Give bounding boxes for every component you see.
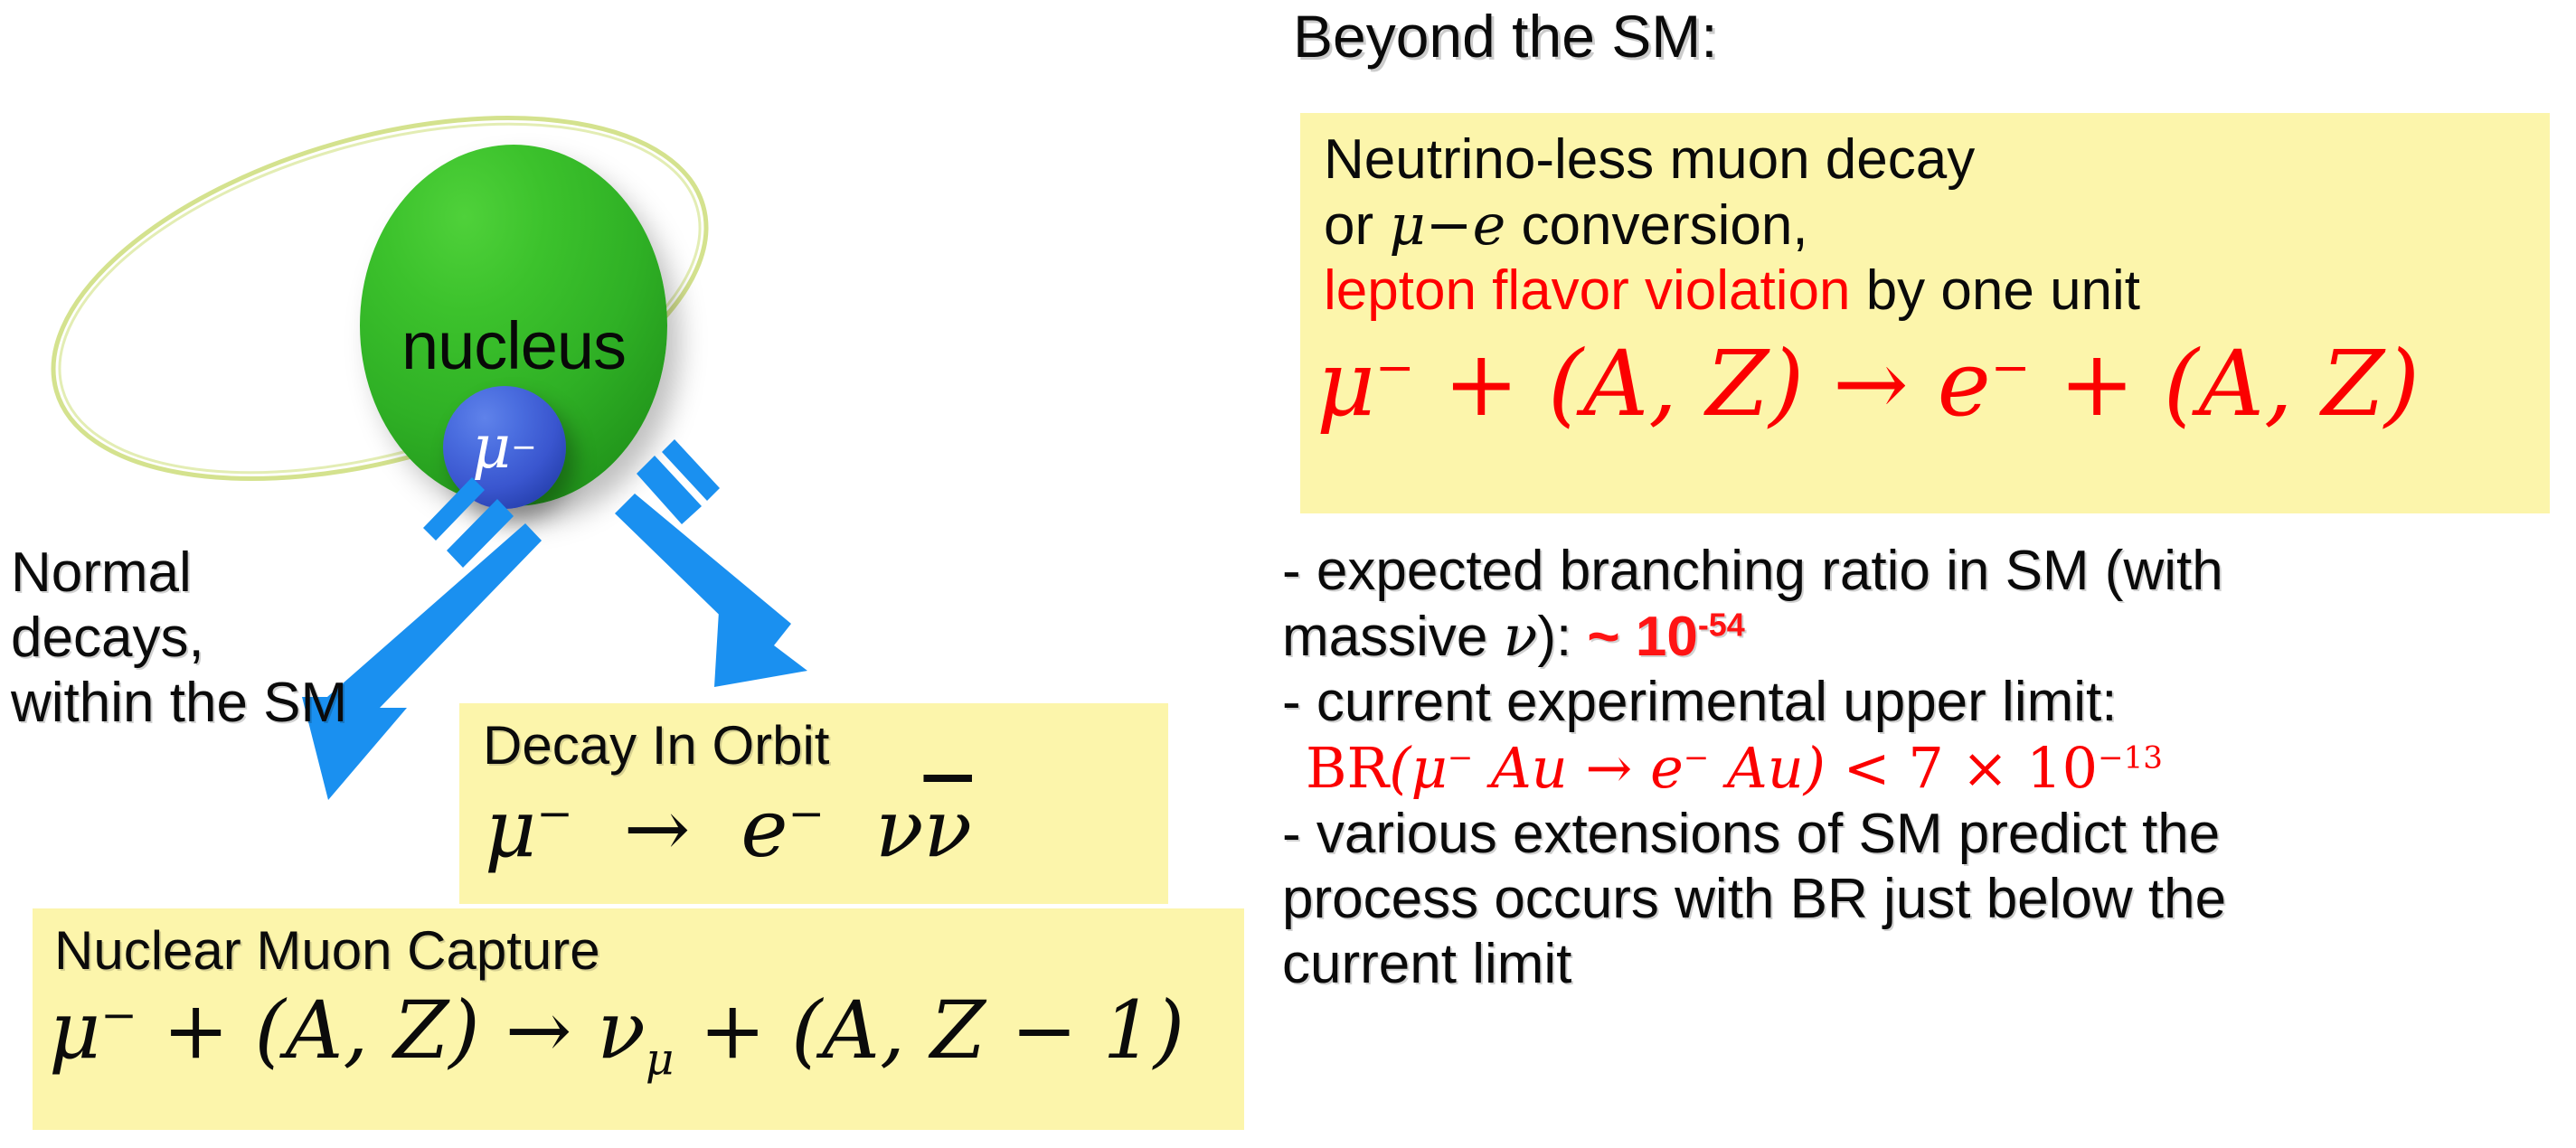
right-column: Beyond the SM: Neutrino-less muon decay … <box>1266 0 2576 1148</box>
bsm-line-2-suffix: conversion, <box>1505 194 1807 257</box>
slide-root: nucleus μ− Normal decays, within the SM <box>0 0 2576 1148</box>
br-upper-limit-formula: BR(μ− Au → e− Au) < 7 × 10−13 <box>1282 735 2575 802</box>
lfv-conversion-formula: μ− + (A, Z) → e− + (A, Z) <box>1300 324 2550 437</box>
beyond-sm-box: Neutrino-less muon decay or μ−e conversi… <box>1300 113 2550 513</box>
br-mantissa: ~ 10 <box>1587 606 1697 668</box>
colon-text: ): <box>1537 606 1587 668</box>
muon-symbol: μ <box>472 418 511 477</box>
massive-prefix: massive <box>1282 606 1504 668</box>
br-exponent: -54 <box>1698 606 1745 643</box>
nuclear-muon-capture-title: Nuclear Muon Capture <box>33 908 1244 982</box>
bullet-various-extensions-line3: current limit <box>1282 932 2575 997</box>
nuclear-muon-capture-formula: μ− + (A, Z) → νμ + (A, Z − 1) <box>33 982 1244 1086</box>
bullet-expected-br: - expected branching ratio in SM (with m… <box>1282 539 2575 670</box>
arrow-decay-in-orbit <box>579 443 877 714</box>
bullet-current-limit: - current experimental upper limit: <box>1282 670 2575 735</box>
bullet-expected-br-line2: massive ν): ~ 10-54 <box>1282 604 2575 670</box>
lepton-flavor-violation-text: lepton flavor violation <box>1324 259 1850 322</box>
bsm-line-3: lepton flavor violation by one unit <box>1300 259 2550 324</box>
bsm-line-2-math: μ−e <box>1389 192 1505 258</box>
bsm-line-3-black: by one unit <box>1850 259 2140 322</box>
normal-decays-caption: Normal decays, within the SM <box>11 541 347 736</box>
bullet-various-extensions-line1: - various extensions of SM predict the <box>1282 802 2575 867</box>
bullet-various-extensions-line2: process occurs with BR just below the <box>1282 867 2575 932</box>
decay-in-orbit-box: Decay In Orbit μ− → e− νν <box>459 703 1168 904</box>
beyond-sm-heading: Beyond the SM: <box>1293 2 1718 71</box>
nuclear-muon-capture-box: Nuclear Muon Capture μ− + (A, Z) → νμ + … <box>33 908 1244 1130</box>
nu-symbol: ν <box>1504 603 1538 669</box>
bsm-line-2: or μ−e conversion, <box>1300 193 2550 259</box>
expected-br-value: ~ 10-54 <box>1587 606 1744 668</box>
muon-atom-diagram: nucleus μ− Normal decays, within the SM <box>0 0 1266 1148</box>
decay-in-orbit-title: Decay In Orbit <box>459 703 1168 776</box>
bullet-various-extensions: - various extensions of SM predict the p… <box>1282 802 2575 997</box>
muon-charge-sign: − <box>511 432 537 463</box>
bsm-line-1: Neutrino-less muon decay <box>1300 113 2550 193</box>
bullet-current-limit-line1: - current experimental upper limit: <box>1282 670 2575 735</box>
decay-in-orbit-formula: μ− → e− νν <box>459 776 1168 875</box>
nucleus-label: nucleus <box>360 307 667 384</box>
bsm-line-2-prefix: or <box>1324 194 1389 257</box>
bullet-list: - expected branching ratio in SM (with m… <box>1282 539 2575 997</box>
bullet-expected-br-line1: - expected branching ratio in SM (with <box>1282 539 2575 604</box>
